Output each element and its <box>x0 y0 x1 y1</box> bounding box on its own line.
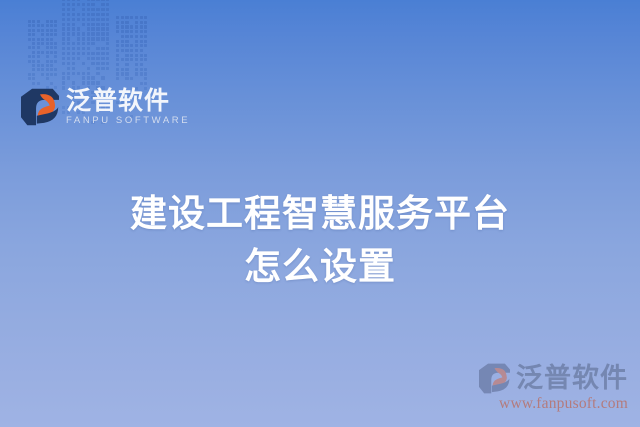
mosaic-cell <box>106 52 109 55</box>
mosaic-cell <box>77 72 80 75</box>
mosaic-cell <box>87 81 90 84</box>
mosaic-cell <box>41 73 44 76</box>
fanpu-hexagon-logo-icon <box>20 88 60 126</box>
mosaic-cell <box>72 42 75 45</box>
mosaic-cell <box>32 64 35 67</box>
mosaic-cell <box>67 42 70 45</box>
mosaic-cell <box>140 16 143 19</box>
mosaic-cell <box>62 76 65 79</box>
mosaic-cell <box>62 47 65 50</box>
mosaic-cell <box>87 23 90 26</box>
mosaic-cell <box>32 60 35 63</box>
mosaic-cell <box>82 32 85 35</box>
mosaic-cell <box>37 60 40 63</box>
mosaic-cell <box>37 46 40 49</box>
mosaic-cell <box>140 54 143 57</box>
mosaic-cell <box>144 68 147 71</box>
mosaic-cell <box>46 20 49 23</box>
mosaic-cell <box>106 47 109 50</box>
mosaic-cell <box>46 77 49 80</box>
mosaic-cell <box>62 13 65 16</box>
mosaic-cell <box>77 42 80 45</box>
mosaic-cell <box>67 32 70 35</box>
mosaic-cell <box>121 35 124 38</box>
mosaic-cell <box>121 58 124 61</box>
mosaic-cell <box>125 25 128 28</box>
mosaic-cell <box>32 51 35 54</box>
mosaic-cell <box>91 52 94 55</box>
mosaic-cell <box>135 16 138 19</box>
mosaic-cell <box>67 0 70 1</box>
mosaic-cell <box>28 55 31 58</box>
mosaic-cell <box>144 21 147 24</box>
mosaic-cell <box>67 76 70 79</box>
mosaic-cell <box>116 68 119 71</box>
mosaic-cell <box>130 58 133 61</box>
mosaic-cell <box>101 57 104 60</box>
mosaic-cell <box>87 76 90 79</box>
mosaic-cell <box>125 54 128 57</box>
mosaic-cell <box>41 38 44 41</box>
mosaic-cell <box>37 29 40 32</box>
mosaic-cell <box>28 20 31 23</box>
mosaic-cell <box>72 27 75 30</box>
mosaic-cell <box>46 60 49 63</box>
mosaic-cell <box>101 0 104 1</box>
mosaic-cell <box>77 47 80 50</box>
mosaic-cell <box>54 73 57 76</box>
mosaic-cell <box>41 33 44 36</box>
mosaic-cell <box>144 58 147 61</box>
mosaic-cell <box>50 51 53 54</box>
brand-watermark: 泛普软件 www.fanpusoft.com <box>478 363 628 413</box>
mosaic-cell <box>144 25 147 28</box>
mosaic-cell <box>87 52 90 55</box>
mosaic-cell <box>140 58 143 61</box>
mosaic-cell <box>96 57 99 60</box>
mosaic-cell <box>125 72 128 75</box>
mosaic-cell <box>72 3 75 6</box>
mosaic-cell <box>125 49 128 52</box>
mosaic-cell <box>101 47 104 50</box>
mosaic-cell <box>96 32 99 35</box>
mosaic-cell <box>50 46 53 49</box>
mosaic-cell <box>140 35 143 38</box>
mosaic-cell <box>46 68 49 71</box>
mosaic-cell <box>140 63 143 66</box>
mosaic-cell <box>121 72 124 75</box>
mosaic-cell <box>144 54 147 57</box>
mosaic-cell <box>67 72 70 75</box>
mosaic-cell <box>135 72 138 75</box>
mosaic-cell <box>96 62 99 65</box>
mosaic-cell <box>106 0 109 1</box>
mosaic-cell <box>135 49 138 52</box>
mosaic-cell <box>91 42 94 45</box>
mosaic-cell <box>121 40 124 43</box>
mosaic-cell <box>135 54 138 57</box>
mosaic-cell <box>116 49 119 52</box>
mosaic-cell <box>41 64 44 67</box>
mosaic-cell <box>91 62 94 65</box>
mosaic-cell <box>54 42 57 45</box>
mosaic-cell <box>144 30 147 33</box>
mosaic-cell <box>67 67 70 70</box>
mosaic-cell <box>121 21 124 24</box>
mosaic-cell <box>106 62 109 65</box>
mosaic-cell <box>96 72 99 75</box>
mosaic-cell <box>72 32 75 35</box>
mosaic-cell <box>87 67 90 70</box>
mosaic-cell <box>82 37 85 40</box>
watermark-brand-name: 泛普软件 <box>516 365 628 392</box>
mosaic-cell <box>140 25 143 28</box>
mosaic-cell <box>28 38 31 41</box>
mosaic-cell <box>50 38 53 41</box>
mosaic-cell <box>67 18 70 21</box>
mosaic-cell <box>37 55 40 58</box>
mosaic-cell <box>106 57 109 60</box>
mosaic-cell <box>101 62 104 65</box>
mosaic-cell <box>46 29 49 32</box>
mosaic-cell <box>87 13 90 16</box>
mosaic-cell <box>121 30 124 33</box>
mosaic-cell <box>130 30 133 33</box>
mosaic-cell <box>140 21 143 24</box>
mosaic-cell <box>87 42 90 45</box>
mosaic-cell <box>32 38 35 41</box>
mosaic-cell <box>62 37 65 40</box>
mosaic-cell <box>116 58 119 61</box>
mosaic-cell <box>62 32 65 35</box>
mosaic-cell <box>62 18 65 21</box>
mosaic-cell <box>46 46 49 49</box>
mosaic-cell <box>96 23 99 26</box>
brand-name-cn: 泛普软件 <box>66 88 190 113</box>
mosaic-cell <box>140 40 143 43</box>
mosaic-cell <box>116 77 119 80</box>
mosaic-cell <box>50 42 53 45</box>
mosaic-cell <box>101 23 104 26</box>
mosaic-cell <box>106 27 109 30</box>
mosaic-cell <box>41 51 44 54</box>
mosaic-cell <box>125 40 128 43</box>
mosaic-cell <box>87 3 90 6</box>
mosaic-cell <box>130 16 133 19</box>
mosaic-cell <box>50 24 53 27</box>
mosaic-cell <box>62 3 65 6</box>
mosaic-cell <box>135 25 138 28</box>
page-title: 建设工程智慧服务平台 怎么设置 <box>0 188 640 293</box>
mosaic-cell <box>130 54 133 57</box>
mosaic-cell <box>67 37 70 40</box>
mosaic-cell <box>77 3 80 6</box>
mosaic-cell <box>32 68 35 71</box>
mosaic-cell <box>46 55 49 58</box>
mosaic-cell <box>144 82 147 85</box>
mosaic-cell <box>72 62 75 65</box>
mosaic-cell <box>91 76 94 79</box>
mosaic-cell <box>72 47 75 50</box>
mosaic-cell <box>144 44 147 47</box>
mosaic-cell <box>41 24 44 27</box>
mosaic-cell <box>41 42 44 45</box>
mosaic-cell <box>101 37 104 40</box>
brand-logo-lockup: 泛普软件 FANPU SOFTWARE <box>20 88 190 126</box>
mosaic-cell <box>130 44 133 47</box>
mosaic-cell <box>130 35 133 38</box>
mosaic-cell <box>37 42 40 45</box>
mosaic-cell <box>82 8 85 11</box>
mosaic-cell <box>77 13 80 16</box>
mosaic-cell <box>106 42 109 45</box>
mosaic-cell <box>116 16 119 19</box>
mosaic-cell <box>96 13 99 16</box>
mosaic-cell <box>37 51 40 54</box>
mosaic-cell <box>116 63 119 66</box>
mosaic-cell <box>106 23 109 26</box>
mosaic-cell <box>62 62 65 65</box>
mosaic-cell <box>101 67 104 70</box>
mosaic-cell <box>32 55 35 58</box>
mosaic-cell <box>125 63 128 66</box>
mosaic-cell <box>77 18 80 21</box>
mosaic-cell <box>54 68 57 71</box>
mosaic-cell <box>140 30 143 33</box>
mosaic-cell <box>125 35 128 38</box>
mosaic-cell <box>91 8 94 11</box>
mosaic-cell <box>28 24 31 27</box>
mosaic-cell <box>72 67 75 70</box>
mosaic-cell <box>144 16 147 19</box>
mosaic-cell <box>116 72 119 75</box>
mosaic-cell <box>46 33 49 36</box>
mosaic-cell <box>67 23 70 26</box>
mosaic-cell <box>77 52 80 55</box>
mosaic-cell <box>72 72 75 75</box>
mosaic-cell <box>62 8 65 11</box>
mosaic-cell <box>32 42 35 45</box>
mosaic-cell <box>41 68 44 71</box>
mosaic-cell <box>140 44 143 47</box>
mosaic-cell <box>77 37 80 40</box>
mosaic-cell <box>37 82 40 85</box>
mosaic-cell <box>87 37 90 40</box>
mosaic-cell <box>37 24 40 27</box>
mosaic-cell <box>144 77 147 80</box>
mosaic-cell <box>72 23 75 26</box>
mosaic-cell <box>67 8 70 11</box>
mosaic-cell <box>77 27 80 30</box>
mosaic-cell <box>125 21 128 24</box>
mosaic-cell <box>140 82 143 85</box>
mosaic-cell <box>82 23 85 26</box>
mosaic-cell <box>87 18 90 21</box>
mosaic-cell <box>82 3 85 6</box>
mosaic-cell <box>121 68 124 71</box>
mosaic-cell <box>77 0 80 1</box>
mosaic-cell <box>96 27 99 30</box>
mosaic-cell <box>62 81 65 84</box>
mosaic-cell <box>101 3 104 6</box>
mosaic-cell <box>67 52 70 55</box>
mosaic-cell <box>62 72 65 75</box>
mosaic-cell <box>101 32 104 35</box>
mosaic-cell <box>144 72 147 75</box>
mosaic-cell <box>106 37 109 40</box>
mosaic-cell <box>62 57 65 60</box>
mosaic-cell <box>46 24 49 27</box>
mosaic-cell <box>96 0 99 1</box>
brand-name-en: FANPU SOFTWARE <box>66 116 190 126</box>
mosaic-cell <box>77 57 80 60</box>
mosaic-cell <box>130 49 133 52</box>
mosaic-cell <box>54 51 57 54</box>
mosaic-cell <box>62 42 65 45</box>
mosaic-cell <box>50 60 53 63</box>
mosaic-cell <box>54 24 57 27</box>
mosaic-cell <box>46 51 49 54</box>
mosaic-cell <box>62 52 65 55</box>
mosaic-cell <box>32 46 35 49</box>
mosaic-cell <box>82 81 85 84</box>
mosaic-cell <box>101 27 104 30</box>
mosaic-cell <box>91 13 94 16</box>
mosaic-cell <box>46 73 49 76</box>
mosaic-cell <box>121 44 124 47</box>
mosaic-cell <box>37 64 40 67</box>
mosaic-cell <box>54 29 57 32</box>
mosaic-cell <box>72 0 75 1</box>
mosaic-cell <box>121 49 124 52</box>
mosaic-cell <box>32 77 35 80</box>
watermark-logo-row: 泛普软件 <box>478 363 628 394</box>
mosaic-cell <box>67 13 70 16</box>
mosaic-cell <box>121 25 124 28</box>
mosaic-cell <box>62 27 65 30</box>
mosaic-cell <box>32 29 35 32</box>
mosaic-cell <box>72 8 75 11</box>
mosaic-cell <box>135 58 138 61</box>
page-title-line-1: 建设工程智慧服务平台 <box>0 188 640 241</box>
mosaic-cell <box>32 20 35 23</box>
mosaic-cell <box>50 64 53 67</box>
mosaic-cell <box>116 21 119 24</box>
mosaic-cell <box>82 42 85 45</box>
mosaic-cell <box>101 18 104 21</box>
mosaic-cell <box>106 32 109 35</box>
mosaic-cell <box>101 13 104 16</box>
mosaic-cell <box>96 47 99 50</box>
mosaic-cell <box>82 52 85 55</box>
mosaic-cell <box>37 68 40 71</box>
mosaic-cell <box>28 73 31 76</box>
mosaic-cell <box>91 81 94 84</box>
mosaic-cell <box>82 76 85 79</box>
mosaic-cell <box>50 20 53 23</box>
mosaic-cell <box>28 77 31 80</box>
mosaic-cell <box>96 18 99 21</box>
mosaic-cell <box>54 46 57 49</box>
mosaic-cell <box>106 13 109 16</box>
mosaic-cell <box>50 29 53 32</box>
mosaic-cell <box>140 72 143 75</box>
mosaic-cell <box>135 35 138 38</box>
mosaic-cell <box>54 55 57 58</box>
mosaic-cell <box>130 25 133 28</box>
mosaic-cell <box>28 33 31 36</box>
mosaic-cell <box>54 33 57 36</box>
mosaic-cell <box>116 44 119 47</box>
mosaic-cell <box>54 20 57 23</box>
mosaic-cell <box>106 18 109 21</box>
mosaic-cell <box>87 57 90 60</box>
mosaic-cell <box>67 62 70 65</box>
watermark-url: www.fanpusoft.com <box>478 395 628 413</box>
mosaic-cell <box>91 32 94 35</box>
mosaic-cell <box>96 67 99 70</box>
mosaic-cell <box>116 40 119 43</box>
mosaic-cell <box>37 20 40 23</box>
mosaic-cell <box>125 58 128 61</box>
mosaic-cell <box>116 54 119 57</box>
mosaic-cell <box>72 52 75 55</box>
mosaic-cell <box>140 49 143 52</box>
mosaic-cell <box>87 8 90 11</box>
mosaic-cell <box>82 62 85 65</box>
mosaic-cell <box>144 40 147 43</box>
mosaic-cell <box>91 23 94 26</box>
mosaic-cell <box>87 0 90 1</box>
mosaic-cell <box>32 33 35 36</box>
mosaic-cell <box>41 29 44 32</box>
mosaic-cell <box>135 30 138 33</box>
mosaic-cell <box>62 0 65 1</box>
mosaic-cell <box>82 13 85 16</box>
mosaic-cell <box>101 76 104 79</box>
mosaic-cell <box>32 73 35 76</box>
mosaic-cell <box>96 52 99 55</box>
mosaic-cell <box>140 68 143 71</box>
mosaic-cell <box>54 60 57 63</box>
mosaic-cell <box>32 82 35 85</box>
mosaic-cell <box>91 3 94 6</box>
mosaic-cell <box>135 68 138 71</box>
mosaic-cell <box>67 57 70 60</box>
mosaic-cell <box>87 27 90 30</box>
mosaic-cell <box>91 18 94 21</box>
mosaic-cell <box>144 35 147 38</box>
mosaic-cell <box>106 67 109 70</box>
mosaic-cell <box>37 38 40 41</box>
mosaic-cell <box>82 47 85 50</box>
mosaic-cell <box>96 37 99 40</box>
mosaic-cell <box>50 73 53 76</box>
mosaic-cell <box>72 13 75 16</box>
mosaic-cell <box>50 33 53 36</box>
mosaic-cell <box>28 60 31 63</box>
mosaic-cell <box>121 16 124 19</box>
mosaic-cell <box>82 18 85 21</box>
mosaic-cell <box>87 32 90 35</box>
mosaic-cell <box>125 44 128 47</box>
mosaic-cell <box>82 72 85 75</box>
brand-name-block: 泛普软件 FANPU SOFTWARE <box>66 88 190 126</box>
mosaic-cell <box>96 81 99 84</box>
mosaic-cell <box>96 8 99 11</box>
mosaic-cell <box>125 30 128 33</box>
mosaic-cell <box>46 38 49 41</box>
